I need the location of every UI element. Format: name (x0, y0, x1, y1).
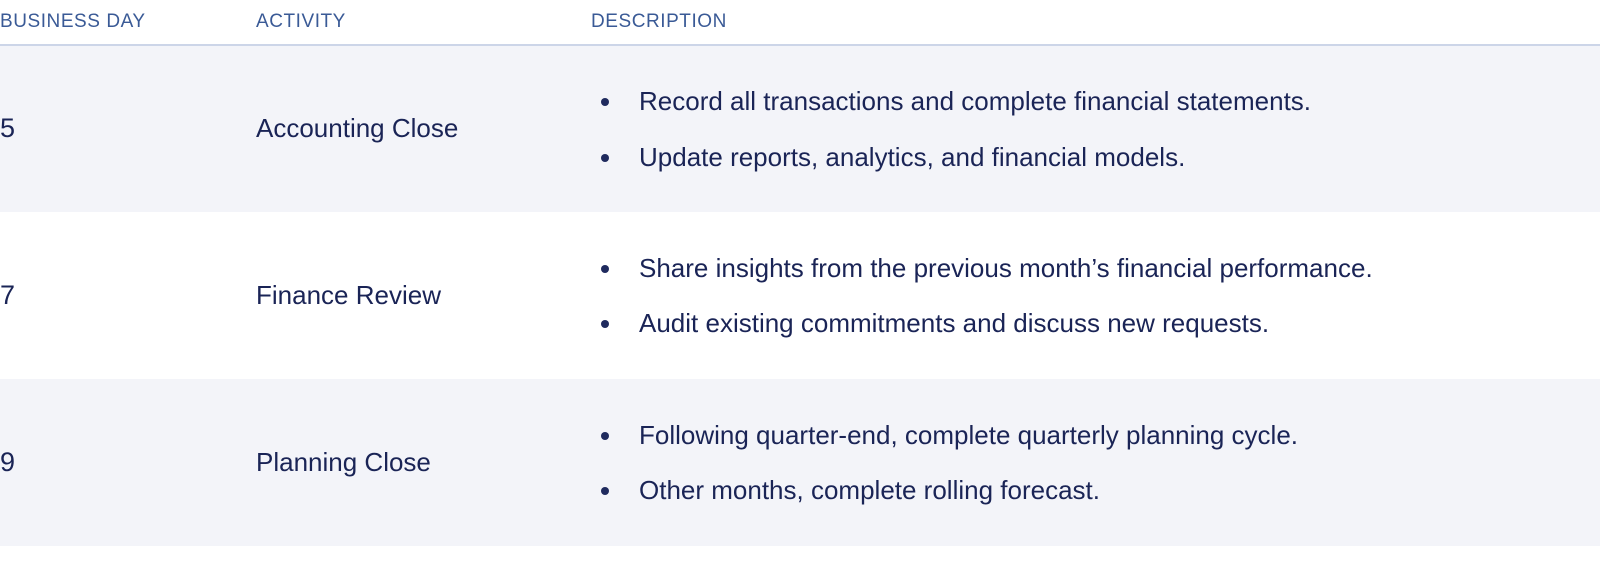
cell-description: Following quarter-end, complete quarterl… (591, 379, 1600, 546)
bullet-point-icon (601, 320, 609, 328)
table-body: 5 Accounting Close Record all transactio… (0, 45, 1600, 546)
list-item-label: Share insights from the previous month’s… (639, 253, 1373, 283)
table-header-row: BUSINESS DAY ACTIVITY DESCRIPTION (0, 0, 1600, 45)
cell-business-day: 9 (0, 379, 256, 546)
cell-activity: Planning Close (256, 379, 591, 546)
list-item-label: Following quarter-end, complete quarterl… (639, 420, 1298, 450)
list-item-label: Record all transactions and complete fin… (639, 86, 1311, 116)
bullet-point-icon (601, 98, 609, 106)
list-item: Update reports, analytics, and financial… (591, 142, 1600, 172)
list-item: Following quarter-end, complete quarterl… (591, 420, 1600, 450)
description-bullet-list: Share insights from the previous month’s… (591, 253, 1600, 338)
description-bullet-list: Record all transactions and complete fin… (591, 86, 1600, 171)
cell-description: Share insights from the previous month’s… (591, 212, 1600, 379)
list-item-label: Update reports, analytics, and financial… (639, 142, 1185, 172)
cell-business-day: 5 (0, 45, 256, 212)
list-item: Other months, complete rolling forecast. (591, 475, 1600, 505)
list-item-label: Other months, complete rolling forecast. (639, 475, 1100, 505)
table-header: BUSINESS DAY ACTIVITY DESCRIPTION (0, 0, 1600, 45)
bullet-point-icon (601, 432, 609, 440)
cell-activity: Finance Review (256, 212, 591, 379)
monthly-close-table: BUSINESS DAY ACTIVITY DESCRIPTION 5 Acco… (0, 0, 1600, 546)
monthly-close-table-container: BUSINESS DAY ACTIVITY DESCRIPTION 5 Acco… (0, 0, 1600, 570)
table-row: 7 Finance Review Share insights from the… (0, 212, 1600, 379)
list-item: Audit existing commitments and discuss n… (591, 308, 1600, 338)
table-row: 9 Planning Close Following quarter-end, … (0, 379, 1600, 546)
column-header-business-day: BUSINESS DAY (0, 0, 256, 45)
bullet-point-icon (601, 487, 609, 495)
bullet-point-icon (601, 265, 609, 273)
column-header-description: DESCRIPTION (591, 0, 1600, 45)
list-item-label: Audit existing commitments and discuss n… (639, 308, 1269, 338)
cell-description: Record all transactions and complete fin… (591, 45, 1600, 212)
description-bullet-list: Following quarter-end, complete quarterl… (591, 420, 1600, 505)
cell-business-day: 7 (0, 212, 256, 379)
list-item: Share insights from the previous month’s… (591, 253, 1600, 283)
column-header-activity: ACTIVITY (256, 0, 591, 45)
bullet-point-icon (601, 154, 609, 162)
cell-activity: Accounting Close (256, 45, 591, 212)
table-row: 5 Accounting Close Record all transactio… (0, 45, 1600, 212)
list-item: Record all transactions and complete fin… (591, 86, 1600, 116)
